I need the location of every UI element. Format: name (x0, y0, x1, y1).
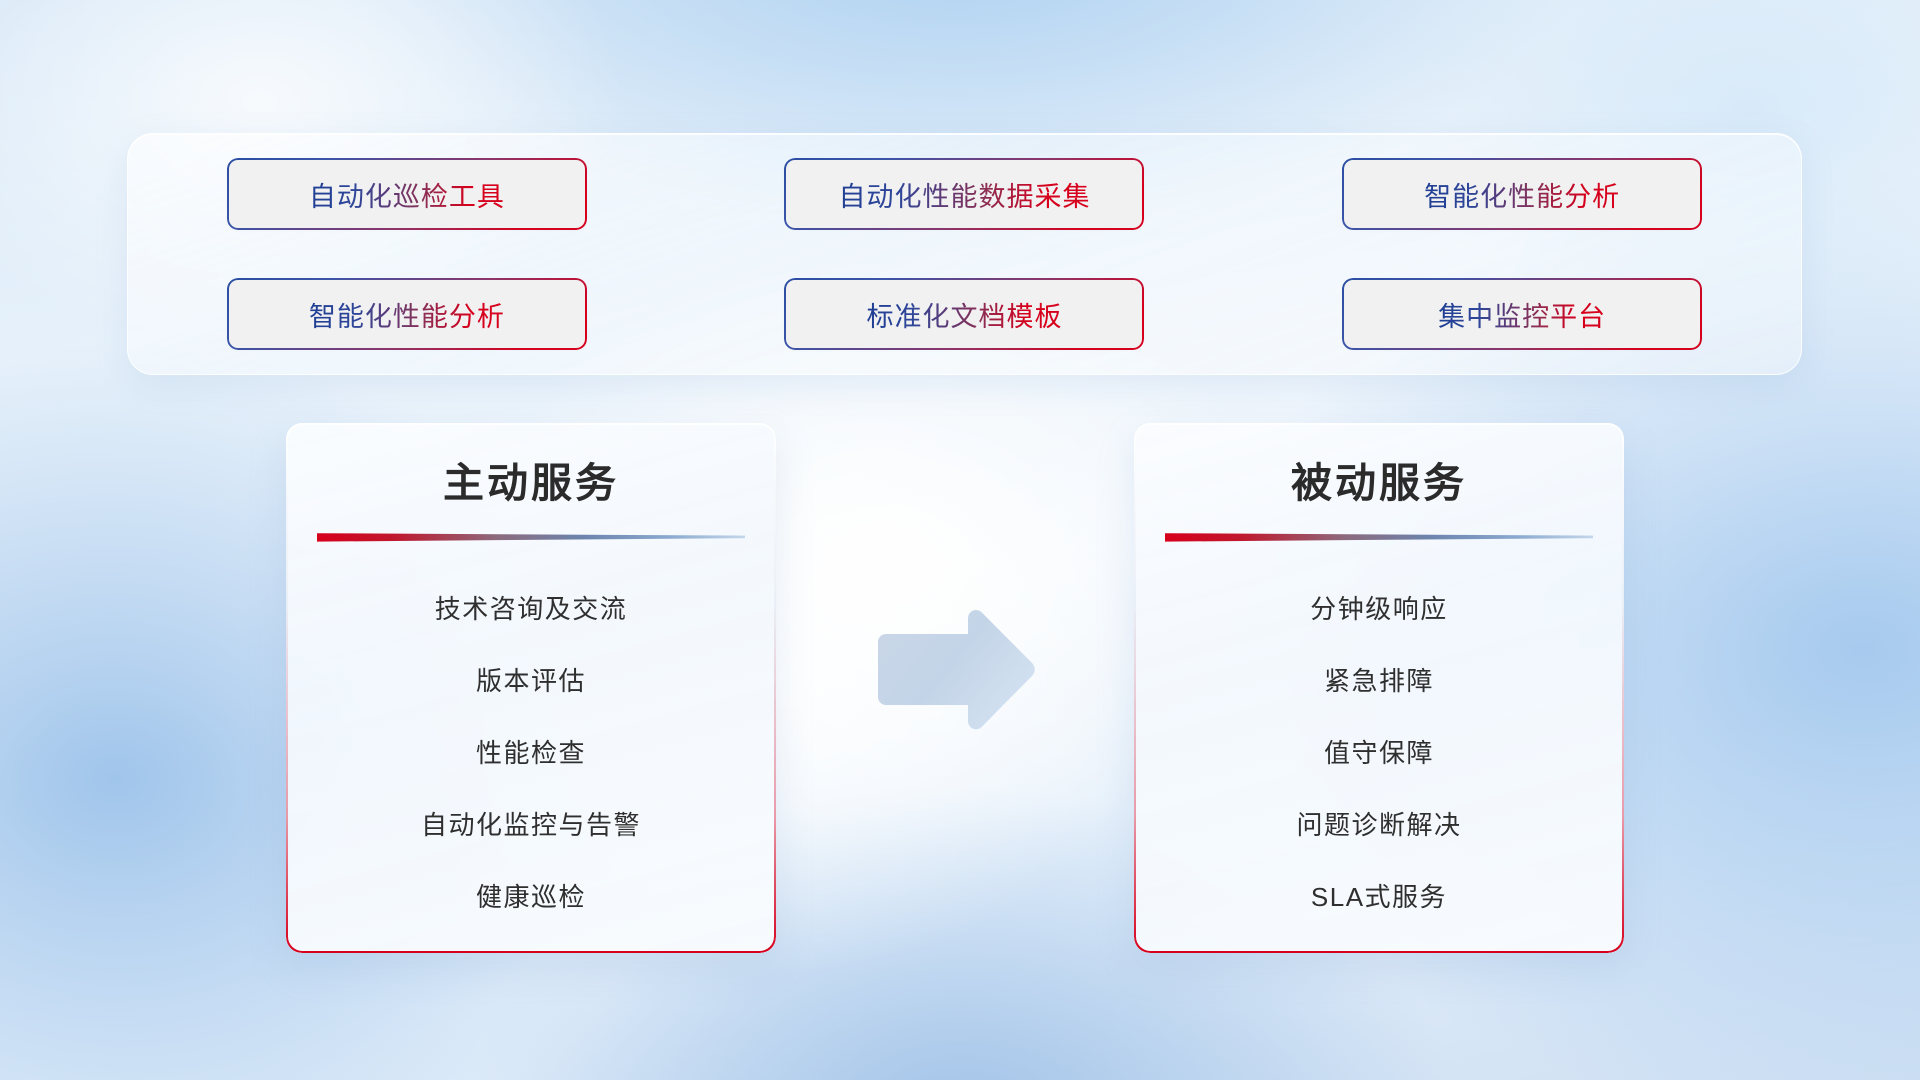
list-item: 紧急排障 (1324, 645, 1434, 717)
list-item: 值守保障 (1324, 717, 1434, 789)
capability-chip-label: 智能化性能分析 (309, 295, 505, 334)
capability-chip-label: 自动化巡检工具 (309, 175, 505, 214)
service-list: 分钟级响应 紧急排障 值守保障 问题诊断解决 SLA式服务 (1296, 573, 1461, 933)
service-card-body: 被动服务 (1134, 423, 1624, 953)
service-card-body: 主动服务 (286, 423, 776, 953)
service-list: 技术咨询及交流 版本评估 性能检查 自动化监控与告警 健康巡检 (421, 573, 641, 933)
service-card-passive[interactable]: 被动服务 (1134, 423, 1624, 953)
capability-chip[interactable]: 智能化性能分析 (1344, 160, 1700, 228)
capability-chip-label: 集中监控平台 (1438, 295, 1606, 334)
list-item: 技术咨询及交流 (435, 573, 628, 645)
capability-chip[interactable]: 自动化性能数据采集 (786, 160, 1142, 228)
list-item: SLA式服务 (1311, 861, 1447, 933)
card-divider-rule (1165, 532, 1593, 543)
capability-chip[interactable]: 标准化文档模板 (786, 280, 1142, 348)
list-item: 健康巡检 (476, 861, 586, 933)
list-item: 版本评估 (476, 645, 586, 717)
arrow-right-icon (872, 608, 1038, 732)
capability-chip[interactable]: 智能化性能分析 (229, 280, 585, 348)
list-item: 问题诊断解决 (1296, 789, 1461, 861)
service-card-active[interactable]: 主动服务 (286, 423, 776, 953)
list-item: 性能检查 (476, 717, 586, 789)
service-card-title: 被动服务 (1291, 459, 1467, 508)
capability-chip-label: 智能化性能分析 (1424, 175, 1620, 214)
capability-chip-grid: 自动化巡检工具 自动化性能数据采集 智能化性能分析 智能化性能分析 标准化文档模… (128, 134, 1801, 374)
capability-chip-label: 自动化性能数据采集 (838, 175, 1090, 214)
list-item: 自动化监控与告警 (421, 789, 641, 861)
card-divider-rule (317, 532, 745, 543)
capability-chip[interactable]: 集中监控平台 (1344, 280, 1700, 348)
slide-canvas: 自动化巡检工具 自动化性能数据采集 智能化性能分析 智能化性能分析 标准化文档模… (0, 0, 1920, 1080)
list-item: 分钟级响应 (1310, 573, 1448, 645)
service-card-title: 主动服务 (443, 459, 619, 508)
capability-chip[interactable]: 自动化巡检工具 (229, 160, 585, 228)
capability-panel: 自动化巡检工具 自动化性能数据采集 智能化性能分析 智能化性能分析 标准化文档模… (127, 133, 1802, 375)
capability-chip-label: 标准化文档模板 (866, 295, 1062, 334)
